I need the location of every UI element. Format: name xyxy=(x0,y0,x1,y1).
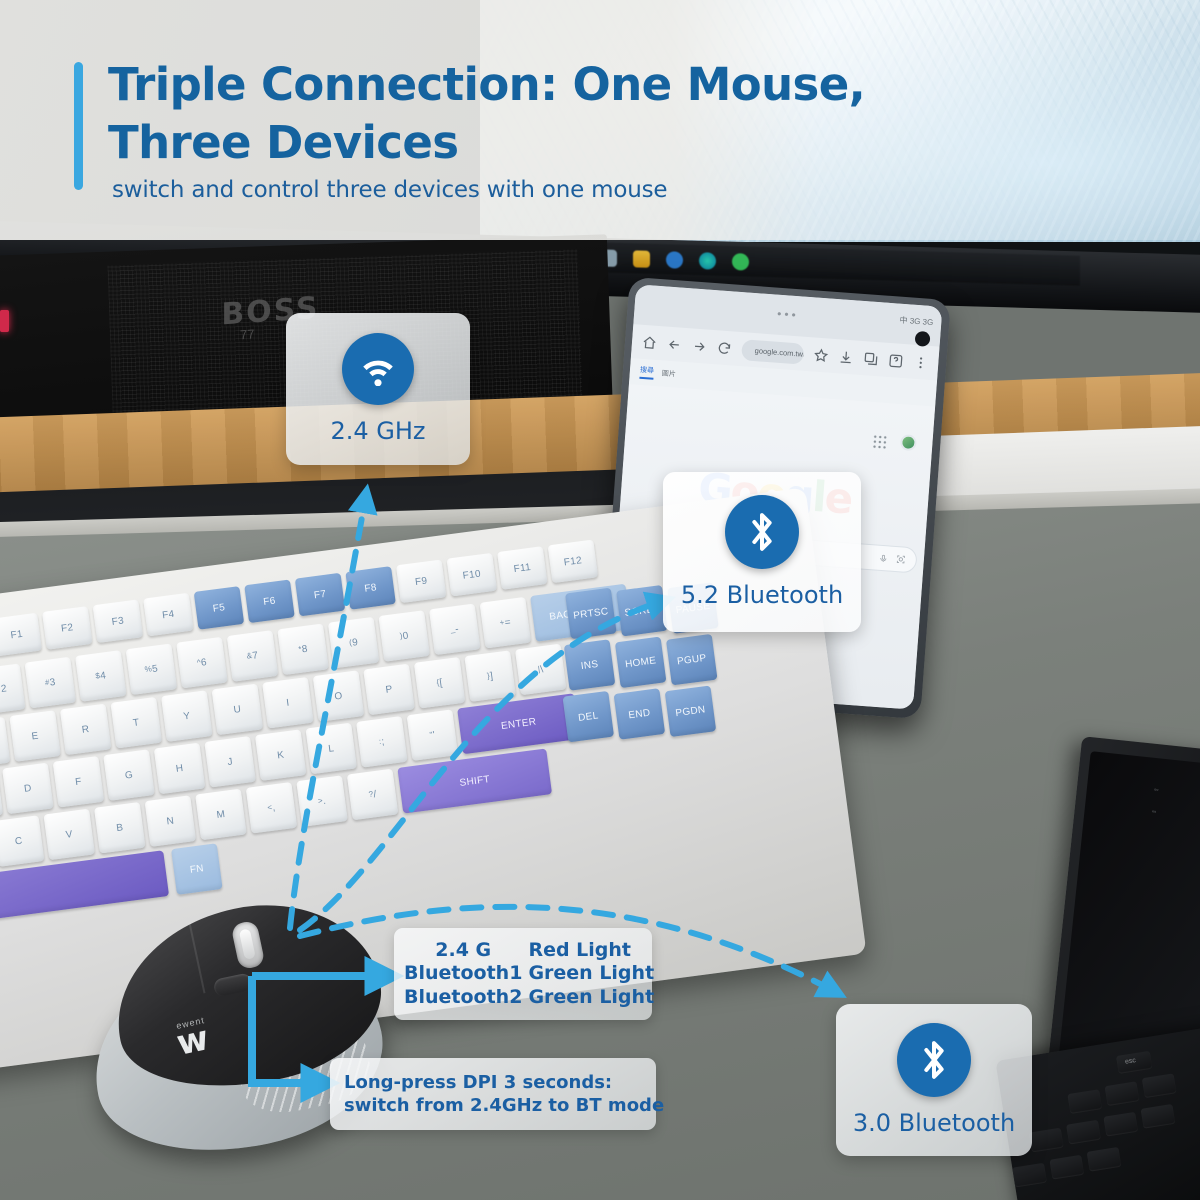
key-del[interactable]: DEL xyxy=(562,691,614,743)
key-quote-label: ' xyxy=(432,729,436,740)
key-i[interactable]: I xyxy=(262,677,314,729)
key-d[interactable]: D xyxy=(2,763,54,815)
mode-row-1-light: Green Light xyxy=(528,963,654,984)
title-line-1: Triple Connection: One Mouse, xyxy=(108,56,1008,114)
key-ins-label: INS xyxy=(580,658,599,671)
key-t-label: T xyxy=(132,717,140,729)
key-prtsc[interactable]: PRTSC xyxy=(565,588,617,640)
laptop-key-7[interactable] xyxy=(1141,1104,1176,1129)
key-num-5-label: 5 xyxy=(151,663,158,675)
key-f10[interactable]: F10 xyxy=(446,553,497,597)
key-w[interactable]: W xyxy=(0,717,10,769)
microphone-icon[interactable] xyxy=(878,552,888,564)
dpi-note-line-1: Long-press DPI 3 seconds: xyxy=(344,1071,656,1094)
accent-bar xyxy=(74,62,83,190)
key-o[interactable]: O xyxy=(313,670,365,722)
key-l[interactable]: L xyxy=(305,723,357,775)
taskbar-icon-chat[interactable] xyxy=(666,251,683,268)
mode-row-2-mode: Bluetooth2 xyxy=(404,987,522,1008)
key-g[interactable]: G xyxy=(103,749,155,801)
laptop-key-6[interactable] xyxy=(1103,1112,1138,1137)
key-del-label: DEL xyxy=(577,710,599,724)
laptop-key-9[interactable] xyxy=(1049,1155,1084,1180)
badge-bluetooth-30: 3.0 Bluetooth xyxy=(836,1004,1032,1156)
key-num-2[interactable]: @2 xyxy=(0,663,25,715)
amp-power-led xyxy=(0,310,9,332)
key-backslash-label: \ xyxy=(540,664,545,675)
key-l-label: L xyxy=(328,743,335,755)
key-end-label: END xyxy=(628,707,651,721)
wifi-icon xyxy=(342,333,414,405)
key-home[interactable]: HOME xyxy=(615,637,667,689)
tab-search[interactable]: 搜尋 xyxy=(639,365,654,380)
translate-icon[interactable] xyxy=(863,351,879,367)
laptop-key-8[interactable] xyxy=(1012,1163,1047,1188)
key-fn[interactable]: FN xyxy=(171,843,223,895)
key-num-6[interactable]: ^6 xyxy=(176,637,228,689)
key-num-6-label: 6 xyxy=(200,657,207,669)
apps-grid-icon[interactable] xyxy=(872,434,887,449)
dpi-note-line-2: switch from 2.4GHz to BT mode xyxy=(344,1094,656,1117)
tablet-status-indicators: 中 3G 3G xyxy=(899,315,934,328)
key-f3[interactable]: F3 xyxy=(93,599,144,643)
key-u[interactable]: U xyxy=(212,684,264,736)
key-f12-label: F12 xyxy=(563,555,582,568)
key-ins[interactable]: INS xyxy=(564,639,616,691)
key-f11-label: F11 xyxy=(513,561,532,574)
home-icon[interactable] xyxy=(642,334,658,350)
key-f9-label: F9 xyxy=(414,575,428,588)
key-num-4-label: 4 xyxy=(100,670,107,682)
key-r[interactable]: R xyxy=(60,704,112,756)
key-f1[interactable]: F1 xyxy=(0,613,42,657)
key-period-label: . xyxy=(322,795,327,806)
key-end[interactable]: END xyxy=(614,688,666,740)
key-num-7-label: 7 xyxy=(252,650,259,662)
laptop-key-3[interactable] xyxy=(1142,1073,1177,1098)
key-v-label: V xyxy=(65,828,73,840)
key-f9[interactable]: F9 xyxy=(396,559,447,603)
laptop-key-2[interactable] xyxy=(1105,1081,1140,1106)
address-bar-url: google.com.tw/?hl=zh_TW& xyxy=(754,346,804,362)
key-p[interactable]: P xyxy=(363,664,415,716)
overflow-menu-icon[interactable] xyxy=(913,354,929,370)
download-icon[interactable] xyxy=(838,349,854,365)
lens-camera-icon[interactable] xyxy=(896,554,907,565)
key-f8-label: F8 xyxy=(364,582,378,595)
account-avatar[interactable] xyxy=(900,434,917,451)
key-f5-label: F5 xyxy=(212,602,226,615)
key-fn-label: FN xyxy=(189,863,204,876)
reload-icon[interactable] xyxy=(716,340,732,356)
key-j-label: J xyxy=(227,756,234,768)
key-comma-label: , xyxy=(272,802,277,813)
key-bracket-left[interactable]: {[ xyxy=(414,657,466,709)
key-f-label: F xyxy=(75,776,83,788)
key-num-8-label: 8 xyxy=(301,643,308,655)
key-quote[interactable]: "' xyxy=(407,709,459,761)
page-subtitle: switch and control three devices with on… xyxy=(112,177,667,203)
light-column: Red Light Green Light Green Light xyxy=(522,932,646,1016)
key-f6-label: F6 xyxy=(263,595,277,608)
key-f8[interactable]: F8 xyxy=(345,566,396,610)
key-f11[interactable]: F11 xyxy=(497,546,548,590)
key-f12[interactable]: F12 xyxy=(548,539,599,583)
key-backslash[interactable]: |\ xyxy=(515,644,567,696)
key-f7-label: F7 xyxy=(313,588,327,601)
key-minus-label: - xyxy=(455,623,460,634)
bluetooth-icon xyxy=(725,495,799,569)
key-comma[interactable]: <, xyxy=(246,782,298,834)
key-h[interactable]: H xyxy=(154,743,206,795)
key-u-label: U xyxy=(233,703,242,715)
foldable-hinge-dots: ••• xyxy=(777,307,800,323)
key-d-label: D xyxy=(23,782,32,794)
key-prtsc-label: PRTSC xyxy=(573,606,609,622)
laptop-key-5[interactable] xyxy=(1066,1120,1101,1145)
key-equal-label: = xyxy=(504,616,512,628)
key-v[interactable]: V xyxy=(43,809,95,861)
tablet-camera xyxy=(915,331,931,347)
key-f[interactable]: F xyxy=(53,756,105,808)
key-pgdn-label: PGDN xyxy=(675,704,706,719)
mode-row-2-light: Green Light xyxy=(528,987,654,1008)
key-slash[interactable]: ?/ xyxy=(347,769,399,821)
help-icon[interactable] xyxy=(888,352,904,368)
key-e-label: E xyxy=(31,730,39,742)
key-n[interactable]: N xyxy=(145,795,197,847)
badge-wifi-24ghz: 2.4 GHz xyxy=(286,313,470,465)
key-f4[interactable]: F4 xyxy=(143,593,194,637)
laptop-key-10[interactable] xyxy=(1087,1147,1122,1172)
key-m-label: M xyxy=(216,808,226,820)
badge-bluetooth-52: 5.2 Bluetooth xyxy=(663,472,861,632)
taskbar-icon-folder[interactable] xyxy=(633,250,650,267)
key-t[interactable]: T xyxy=(110,697,162,749)
key-bracket-right[interactable]: }] xyxy=(464,650,516,702)
key-k-label: K xyxy=(276,749,284,761)
key-j[interactable]: J xyxy=(204,736,256,788)
key-num-7[interactable]: &7 xyxy=(227,630,279,682)
key-num-2-label: 2 xyxy=(0,683,7,695)
forward-arrow-icon[interactable] xyxy=(691,338,707,354)
mode-indicator-table: 2.4 G Bluetooth1 Bluetooth2 Red Light Gr… xyxy=(394,928,652,1020)
key-scrlk[interactable]: SCRLK xyxy=(616,585,668,637)
key-shift-label: SHIFT xyxy=(459,774,491,789)
key-num-0-label: 0 xyxy=(402,630,409,642)
title-line-2: Three Devices xyxy=(108,114,1008,172)
key-n-label: N xyxy=(166,815,175,827)
key-semicolon[interactable]: :; xyxy=(356,716,408,768)
key-num-4[interactable]: $4 xyxy=(75,650,127,702)
key-f10-label: F10 xyxy=(462,568,481,581)
key-f2[interactable]: F2 xyxy=(42,606,93,650)
key-pgup[interactable]: PGUP xyxy=(666,634,718,686)
badge-wifi-label: 2.4 GHz xyxy=(330,417,425,445)
key-k[interactable]: K xyxy=(255,729,307,781)
key-home-label: HOME xyxy=(624,655,656,670)
mode-row-0-light: Red Light xyxy=(528,940,631,961)
key-bracket-right-label: ] xyxy=(489,670,494,681)
dpi-instruction-note: Long-press DPI 3 seconds: switch from 2.… xyxy=(330,1058,656,1130)
key-o-label: O xyxy=(334,690,343,702)
key-b-label: B xyxy=(116,822,124,834)
key-b[interactable]: B xyxy=(94,802,146,854)
taskbar-icon-teams[interactable] xyxy=(699,252,716,269)
key-f1-label: F1 xyxy=(10,628,24,641)
key-p-label: P xyxy=(385,684,393,696)
key-num-9[interactable]: (9 xyxy=(328,617,380,669)
laptop-label-2: ▫▫ xyxy=(1152,809,1200,821)
mouse-brand-mark: w xyxy=(174,1021,212,1061)
badge-bluetooth52-label: 5.2 Bluetooth xyxy=(681,581,843,609)
key-f4-label: F4 xyxy=(162,608,176,621)
key-y[interactable]: Y xyxy=(161,690,213,742)
key-c-label: C xyxy=(14,835,23,847)
key-r-label: R xyxy=(81,723,90,735)
key-bracket-left-label: [ xyxy=(439,677,444,688)
key-num-3[interactable]: #3 xyxy=(24,657,76,709)
key-f3-label: F3 xyxy=(111,615,125,628)
key-minus[interactable]: _- xyxy=(429,604,481,656)
key-num-0[interactable]: )0 xyxy=(378,610,430,662)
key-f7[interactable]: F7 xyxy=(295,573,346,617)
key-scrlk-label: SCRLK xyxy=(624,603,660,618)
key-pgup-label: PGUP xyxy=(676,652,707,667)
header-banner: Triple Connection: One Mouse, Three Devi… xyxy=(0,0,1200,240)
key-slash-label: / xyxy=(373,788,378,799)
key-f2-label: F2 xyxy=(60,622,74,635)
address-bar[interactable]: google.com.tw/?hl=zh_TW& xyxy=(741,339,804,364)
laptop-key-4[interactable] xyxy=(1029,1128,1064,1153)
lock-icon xyxy=(750,346,751,353)
mode-row-0-mode: 2.4 G xyxy=(435,940,491,961)
page-title: Triple Connection: One Mouse, Three Devi… xyxy=(108,56,1008,171)
badge-bluetooth30-label: 3.0 Bluetooth xyxy=(853,1109,1015,1137)
mode-row-1-mode: Bluetooth1 xyxy=(404,963,522,984)
key-num-9-label: 9 xyxy=(351,637,358,649)
key-c[interactable]: C xyxy=(0,815,44,867)
bluetooth-icon xyxy=(897,1023,971,1097)
key-num-5[interactable]: %5 xyxy=(126,643,178,695)
key-pgdn[interactable]: PGDN xyxy=(665,685,717,737)
promo-image: BOSS 77 ••• 中 3G 3G xyxy=(0,0,1200,1200)
key-num-8[interactable]: *8 xyxy=(277,623,329,675)
key-f5[interactable]: F5 xyxy=(194,586,245,630)
key-h-label: H xyxy=(175,762,184,774)
key-g-label: G xyxy=(124,769,133,781)
key-i-label: I xyxy=(286,697,291,708)
tab-images[interactable]: 圖片 xyxy=(661,368,676,379)
taskbar-icon-whatsapp[interactable] xyxy=(732,253,749,270)
key-enter[interactable]: ENTER xyxy=(457,693,580,754)
key-e[interactable]: E xyxy=(9,710,61,762)
key-y-label: Y xyxy=(183,710,191,722)
key-enter-label: ENTER xyxy=(500,716,537,732)
key-num-3-label: 3 xyxy=(49,676,56,688)
key-equal[interactable]: += xyxy=(480,597,532,649)
back-arrow-icon[interactable] xyxy=(666,336,682,352)
key-f6[interactable]: F6 xyxy=(244,579,295,623)
key-semicolon-label: ; xyxy=(381,736,386,747)
amp-model-label: 77 xyxy=(240,326,255,342)
key-period[interactable]: >. xyxy=(296,775,348,827)
key-m[interactable]: M xyxy=(195,789,247,841)
laptop-key-1[interactable] xyxy=(1067,1089,1102,1114)
bookmark-star-icon[interactable] xyxy=(813,347,829,363)
mode-column: 2.4 G Bluetooth1 Bluetooth2 xyxy=(404,932,522,1016)
